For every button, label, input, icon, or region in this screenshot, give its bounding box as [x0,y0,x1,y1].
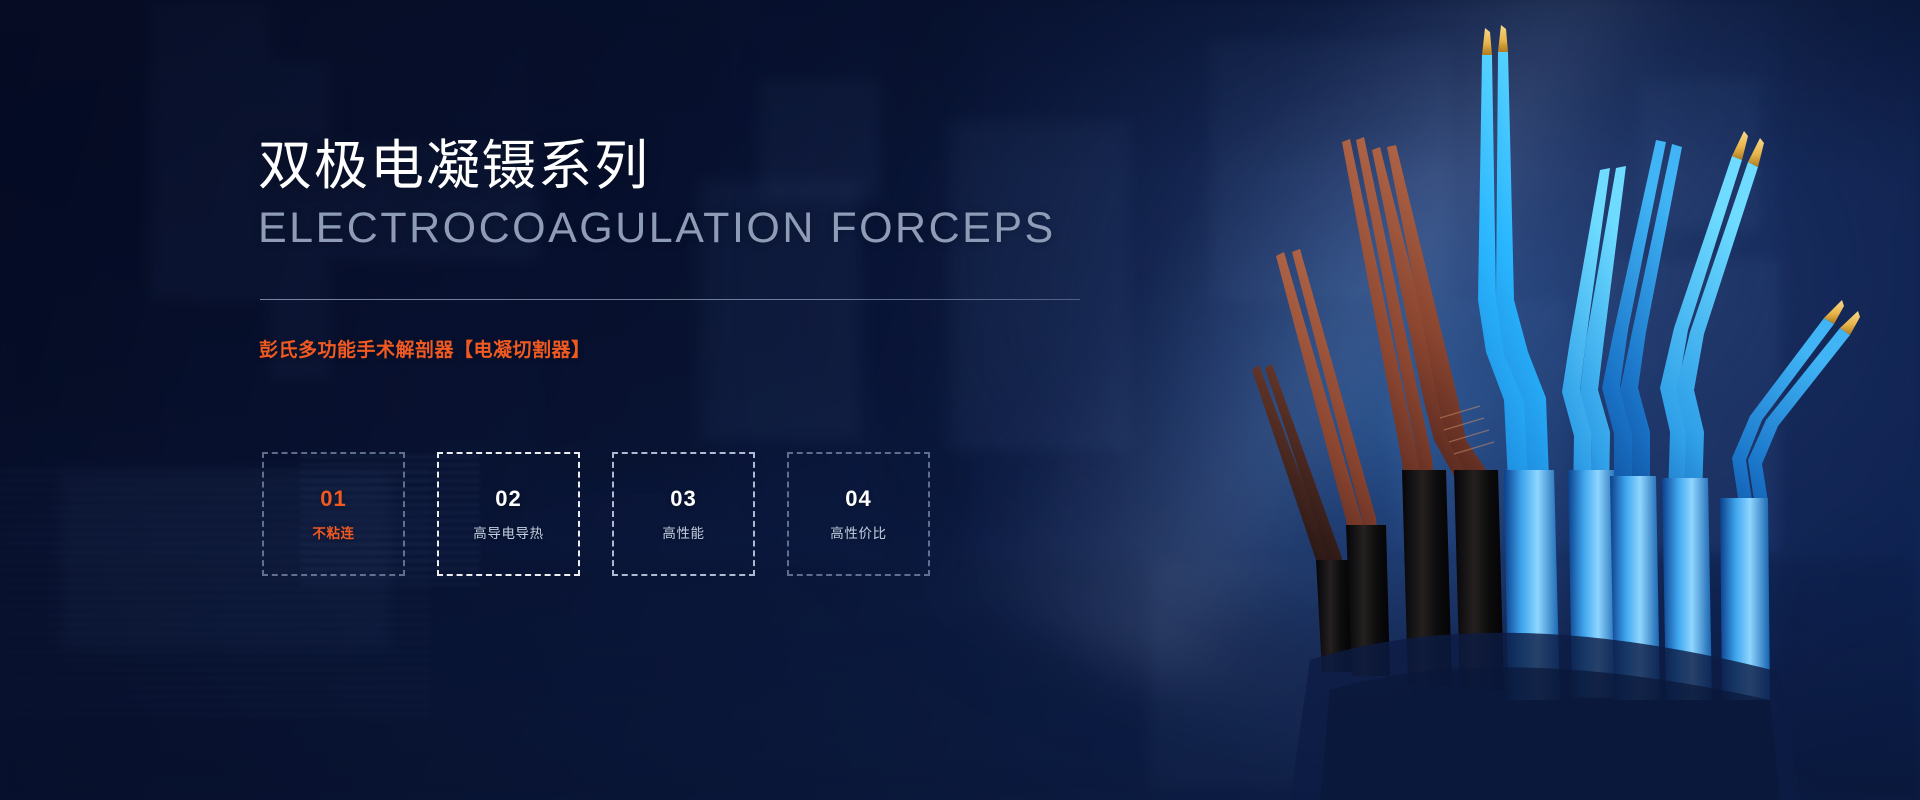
feature-label: 高性价比 [830,527,886,541]
forceps-artwork [1080,0,1920,800]
feature-card-03[interactable]: 03 高性能 [612,452,755,576]
page-subtitle-english: ELECTROCOAGULATION FORCEPS [258,206,1056,251]
feature-card-04[interactable]: 04 高性价比 [787,452,930,576]
feature-label: 不粘连 [312,527,354,541]
feature-label: 高性能 [662,527,704,541]
feature-number: 03 [670,488,696,510]
feature-card-01[interactable]: 01 不粘连 [262,452,405,576]
product-banner: 双极电凝镊系列 ELECTROCOAGULATION FORCEPS 彭氏多功能… [0,0,1920,800]
banner-content: 双极电凝镊系列 ELECTROCOAGULATION FORCEPS 彭氏多功能… [258,0,1078,800]
feature-number: 04 [845,488,871,510]
feature-card-02[interactable]: 02 高导电导热 [437,452,580,576]
page-title: 双极电凝镊系列 [258,138,650,195]
feature-list: 01 不粘连 02 高导电导热 03 高性能 04 高性价比 [262,452,930,576]
forceps-blue-5 [1720,300,1860,700]
product-tagline: 彭氏多功能手术解剖器【电凝切割器】 [259,335,591,362]
title-divider [260,299,1080,300]
feature-number: 02 [495,488,521,510]
feature-label: 高导电导热 [473,527,544,541]
feature-number: 01 [320,488,346,510]
